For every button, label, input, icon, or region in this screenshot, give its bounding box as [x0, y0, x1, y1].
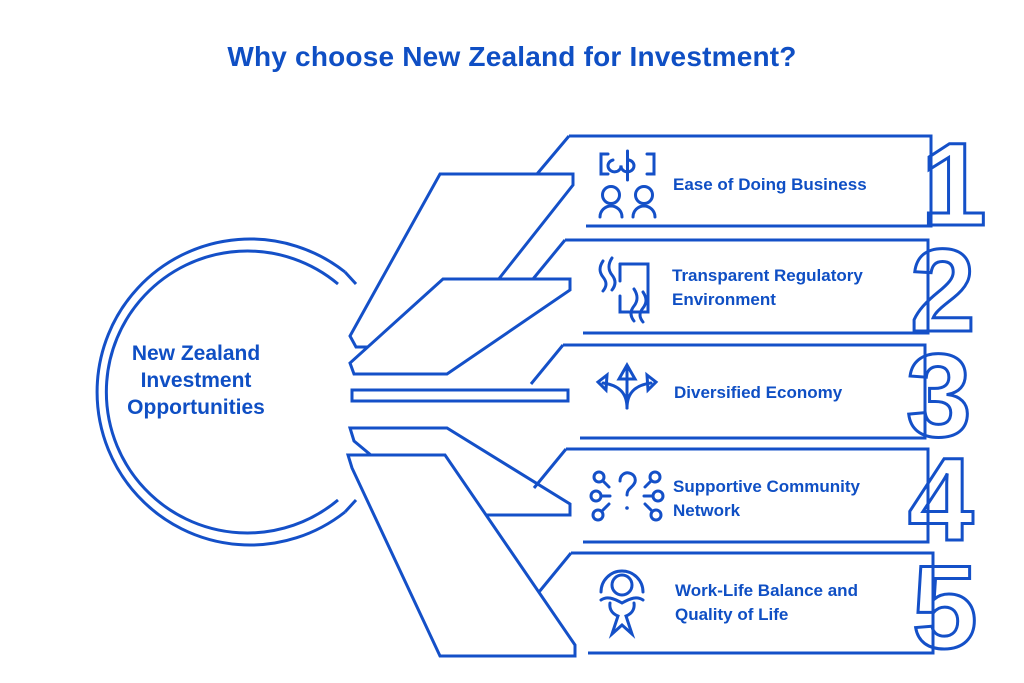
item-label-2-line-2: Environment — [672, 288, 902, 312]
connector-ribbon-3 — [352, 390, 568, 401]
item-label-2: Transparent Regulatory Environment — [672, 264, 902, 312]
item-label-4: Supportive Community Network — [673, 475, 903, 523]
infographic-canvas: Why choose New Zealand for Investment? — [0, 0, 1024, 683]
item-label-1-line-1: Ease of Doing Business — [673, 173, 903, 197]
item-label-5-line-2: Quality of Life — [675, 603, 905, 627]
item-label-1: Ease of Doing Business — [673, 173, 903, 197]
center-label-line-2: Investment — [48, 367, 344, 394]
center-label-line-3: Opportunities — [48, 394, 344, 421]
step-number-5: 5 — [912, 542, 978, 674]
item-label-3-line-1: Diversified Economy — [674, 381, 904, 405]
item-label-4-line-2: Network — [673, 499, 903, 523]
circle-gap-cap-top — [345, 272, 356, 284]
item-label-5-line-1: Work-Life Balance and — [675, 579, 905, 603]
center-label-line-1: New Zealand — [48, 340, 344, 367]
item-label-3: Diversified Economy — [674, 381, 904, 405]
item-label-2-line-1: Transparent Regulatory — [672, 264, 902, 288]
center-hub-label: New Zealand Investment Opportunities — [48, 340, 344, 421]
item-label-5: Work-Life Balance and Quality of Life — [675, 579, 905, 627]
item-label-4-line-1: Supportive Community — [673, 475, 903, 499]
circle-gap-cap-bottom — [345, 500, 356, 512]
